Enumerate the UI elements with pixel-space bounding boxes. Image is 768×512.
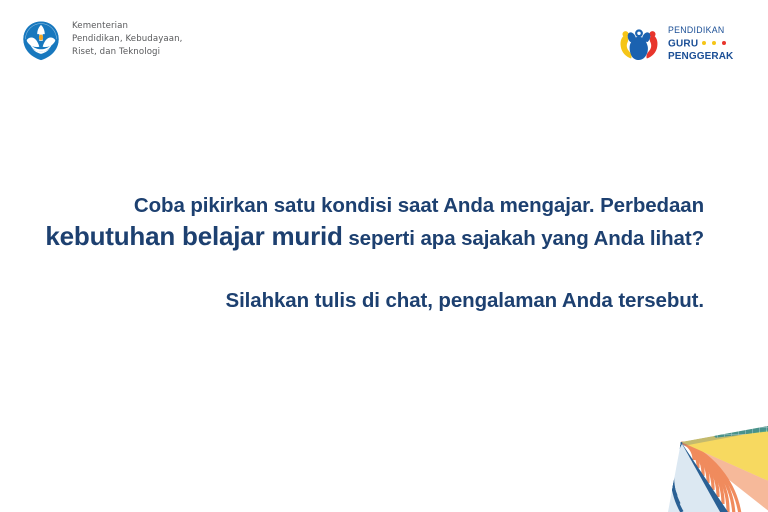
question-segment-2: seperti apa sajakah yang Anda lihat?: [343, 227, 704, 250]
corner-fan-ornament: [668, 420, 768, 512]
slide-header: Kementerian Pendidikan, Kebudayaan, Rise…: [0, 0, 768, 92]
program-wordmark-line-3: PENGGERAK: [668, 51, 734, 62]
program-wordmark: PENDIDIKAN GURU PENGGERAK: [668, 22, 750, 62]
question-emphasis: kebutuhan belajar murid: [45, 221, 342, 251]
question-segment-1: Coba pikirkan satu kondisi saat Anda men…: [134, 194, 704, 217]
program-wordmark-line-1: PENDIDIKAN: [668, 25, 724, 35]
tut-wuri-handayani-emblem: [20, 18, 62, 62]
instruction-segment-2: , pengalaman Anda tersebut.: [427, 289, 704, 312]
question-paragraph: Coba pikirkan satu kondisi saat Anda men…: [0, 190, 704, 254]
instruction-italic-word: chat: [385, 289, 427, 312]
instruction-segment-1: Silahkan tulis di: [226, 289, 386, 312]
slide-text-block: Coba pikirkan satu kondisi saat Anda men…: [0, 190, 704, 316]
paragraph-spacer: [0, 254, 704, 285]
ministry-name-line-2: Pendidikan, Kebudayaan,: [72, 33, 183, 46]
ministry-logo-lockup: Kementerian Pendidikan, Kebudayaan, Rise…: [20, 18, 183, 62]
ministry-name-line-1: Kementerian: [72, 20, 183, 33]
program-wordmark-line-2: GURU: [668, 39, 698, 50]
program-logo-lockup: PENDIDIKAN GURU PENGGERAK: [617, 22, 750, 62]
ministry-name-text: Kementerian Pendidikan, Kebudayaan, Rise…: [72, 20, 183, 59]
ministry-name-line-3: Riset, dan Teknologi: [72, 46, 183, 59]
three-figures-mark: [617, 22, 661, 62]
instruction-paragraph: Silahkan tulis di chat, pengalaman Anda …: [0, 285, 704, 316]
